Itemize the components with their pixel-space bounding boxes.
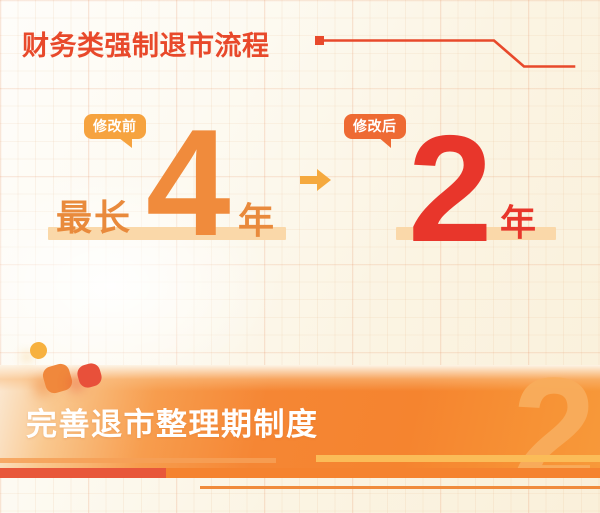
- banner-rule-pale-right: [316, 455, 600, 462]
- unit-before-revision: 年: [238, 203, 274, 239]
- unit-after-revision: 年: [500, 205, 536, 241]
- connector-line-icon: [314, 34, 584, 74]
- value-after-revision: 2: [408, 113, 491, 265]
- decorative-square-yellow: [28, 340, 49, 361]
- banner-rule-pale-left: [0, 458, 276, 463]
- badge-after-revision: 修改后: [344, 114, 406, 139]
- arrow-right-icon: [300, 167, 332, 193]
- value-before-revision: 4: [146, 107, 229, 259]
- comparison-section: 修改前 4 最长 年 修改后 2 年: [0, 95, 600, 265]
- label-maximum: 最长: [56, 200, 132, 236]
- badge-before-revision: 修改前: [84, 114, 146, 139]
- banner-title: 完善退市整理期制度: [26, 399, 319, 444]
- page-title: 财务类强制退市流程: [22, 24, 270, 63]
- infographic-root: 财务类强制退市流程 修改前 4 最长 年 修改后 2 年 2 完善退市整理期制度: [0, 0, 600, 513]
- banner-rule-red: [0, 468, 166, 478]
- banner-rule-thin: [200, 486, 600, 489]
- banner-watermark-number: 2: [513, 365, 596, 468]
- banner-rule-orange: [166, 468, 600, 478]
